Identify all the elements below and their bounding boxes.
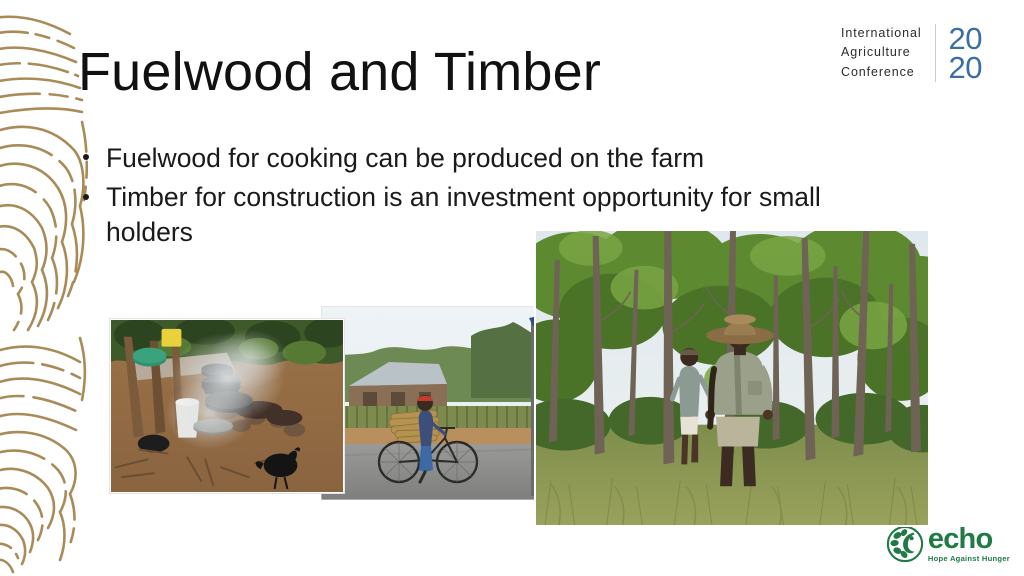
conference-line-3: Conference: [841, 63, 922, 82]
conference-year-top: 20: [949, 24, 982, 53]
echo-globe-leaf-icon: [886, 525, 924, 563]
echo-tagline: Hope Against Hunger: [928, 555, 1010, 563]
echo-wordmark: echo: [928, 525, 1010, 554]
bullet-dot-icon: [83, 154, 89, 160]
slide-canvas: Fuelwood and Timber Fuelwood for cooking…: [0, 0, 1024, 576]
photo-timber-woodlot: [534, 229, 930, 527]
conference-year-bottom: 20: [949, 53, 982, 82]
conference-line-2: Agriculture: [841, 43, 922, 62]
conference-line-1: International: [841, 24, 922, 43]
bullet-text: Fuelwood for cooking can be produced on …: [106, 143, 704, 173]
conference-logo: International Agriculture Conference 20 …: [841, 22, 982, 84]
bullet-item-1: Fuelwood for cooking can be produced on …: [78, 141, 878, 175]
conference-name: International Agriculture Conference: [841, 24, 935, 82]
bullet-dot-icon: [83, 194, 89, 200]
slide-title: Fuelwood and Timber: [78, 44, 601, 101]
conference-year: 20 20: [936, 24, 982, 83]
echo-logo: echo Hope Against Hunger: [886, 522, 1010, 566]
photo-cooking-fire: [109, 318, 345, 494]
wood-grain-decoration: [0, 0, 88, 576]
echo-wordmark-block: echo Hope Against Hunger: [928, 525, 1010, 563]
